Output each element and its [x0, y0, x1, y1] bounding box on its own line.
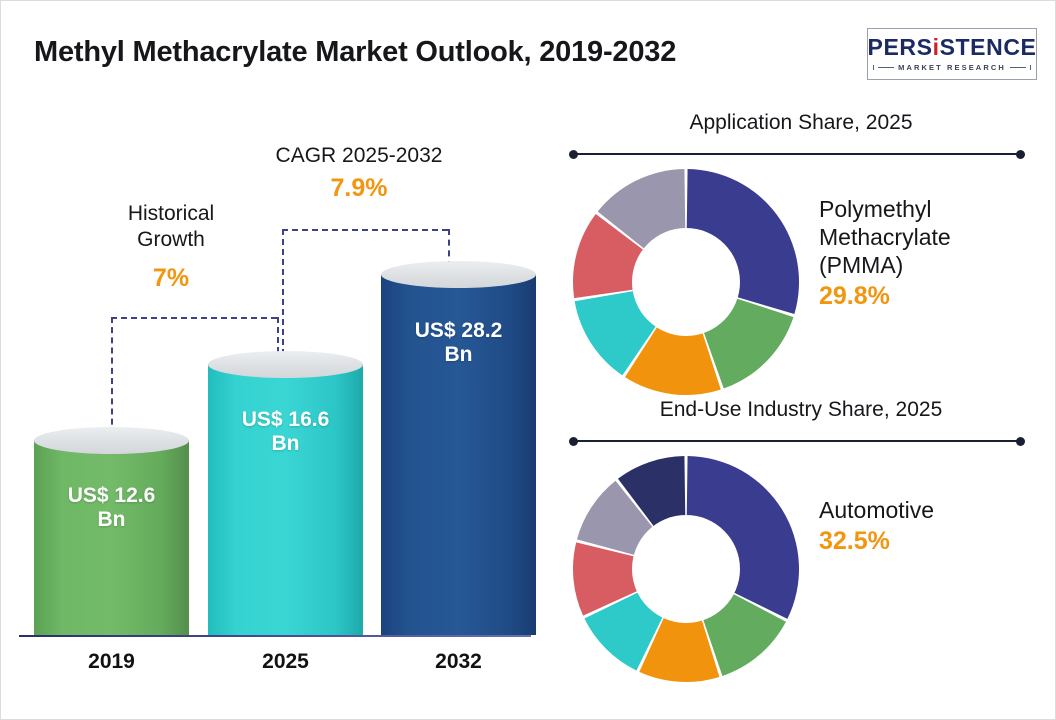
application-share-donut[interactable]: [571, 167, 801, 397]
end-use-industry-heading: End-Use Industry Share, 2025: [557, 398, 1045, 422]
logo-word-part-2: STENCE: [940, 34, 1037, 60]
bar-2019-value-line1: US$ 12.6: [68, 484, 156, 507]
logo-word-part-1: PERS: [868, 34, 933, 60]
x-axis-label-2019: 2019: [34, 650, 189, 674]
application-share-heading: Application Share, 2025: [557, 111, 1045, 135]
divider-dot-right: [1016, 150, 1025, 159]
application-share-legend-name: Polymethyl Methacrylate (PMMA): [819, 195, 1039, 279]
bar-2032-value-line1: US$ 28.2: [415, 319, 503, 342]
bar-2019-body: [34, 440, 189, 635]
divider-dot-left: [569, 150, 578, 159]
infographic-page: Methyl Methacrylate Market Outlook, 2019…: [0, 0, 1056, 720]
end-use-industry-divider: [571, 440, 1023, 442]
bar-2032-value-label: US$ 28.2 Bn: [381, 319, 536, 368]
bar-2032-value-line2: Bn: [445, 343, 473, 366]
bar-2025[interactable]: US$ 16.6 Bn: [208, 351, 363, 635]
divider-dot-left: [569, 437, 578, 446]
logo-rule-tick-right: [1030, 65, 1031, 70]
logo-rule-right: [1010, 67, 1026, 68]
legend-line-3: (PMMA): [819, 252, 903, 278]
bar-2019-top: [34, 427, 189, 454]
application-share-legend-percent: 29.8%: [819, 282, 1039, 311]
x-axis-line: [19, 635, 531, 637]
bar-2019-value-line2: Bn: [98, 508, 126, 531]
historical-growth-value: 7%: [76, 264, 266, 293]
logo-rule-tick-left: [873, 65, 874, 70]
end-use-industry-legend-name: Automotive: [819, 496, 1039, 524]
bar-chart: Historical Growth 7% CAGR 2025-2032 7.9%: [1, 101, 549, 681]
page-title: Methyl Methacrylate Market Outlook, 2019…: [34, 35, 754, 70]
application-share-panel: Application Share, 2025 Polymethyl Metha…: [557, 109, 1045, 399]
x-axis-label-2032: 2032: [381, 650, 536, 674]
x-axis-label-2025: 2025: [208, 650, 363, 674]
persistence-market-research-logo: PERSiSTENCE MARKET RESEARCH: [867, 28, 1037, 80]
divider-dot-right: [1016, 437, 1025, 446]
end-use-industry-panel: End-Use Industry Share, 2025 Automotive …: [557, 396, 1045, 686]
bar-2025-cylinder: [208, 351, 363, 635]
bar-2032[interactable]: US$ 28.2 Bn: [381, 261, 536, 635]
bar-2032-top: [381, 261, 536, 288]
bar-2025-body: [208, 364, 363, 635]
logo-subtitle: MARKET RESEARCH: [898, 63, 1006, 72]
historical-growth-label-line1: Historical: [128, 202, 214, 225]
legend-line-1: Polymethyl: [819, 196, 931, 222]
bar-2025-value-label: US$ 16.6 Bn: [208, 408, 363, 457]
end-use-industry-legend-percent: 32.5%: [819, 527, 1039, 556]
logo-wordmark: PERSiSTENCE: [868, 36, 1037, 59]
bar-2019-value-label: US$ 12.6 Bn: [34, 484, 189, 533]
logo-subtitle-row: MARKET RESEARCH: [873, 63, 1031, 72]
end-use-industry-legend: Automotive 32.5%: [819, 496, 1039, 556]
logo-word-accent-i: i: [933, 34, 940, 60]
bar-2019[interactable]: US$ 12.6 Bn: [34, 427, 189, 635]
end-use-industry-donut-hole: [632, 515, 740, 623]
bar-2025-value-line2: Bn: [272, 432, 300, 455]
bar-2025-top: [208, 351, 363, 378]
logo-rule-left: [878, 67, 894, 68]
application-share-donut-hole: [632, 228, 740, 336]
application-share-legend: Polymethyl Methacrylate (PMMA) 29.8%: [819, 195, 1039, 311]
end-use-industry-donut[interactable]: [571, 454, 801, 684]
cagr-label-line1: CAGR 2025-2032: [276, 144, 443, 167]
bar-2032-cylinder: [381, 261, 536, 635]
cagr-value: 7.9%: [214, 174, 504, 203]
bar-2025-value-line1: US$ 16.6: [242, 408, 330, 431]
historical-growth-label-line2: Growth: [137, 228, 205, 251]
application-share-divider: [571, 153, 1023, 155]
legend-line-2: Methacrylate: [819, 224, 951, 250]
cagr-label: CAGR 2025-2032: [214, 143, 504, 169]
historical-growth-label: Historical Growth: [76, 201, 266, 252]
